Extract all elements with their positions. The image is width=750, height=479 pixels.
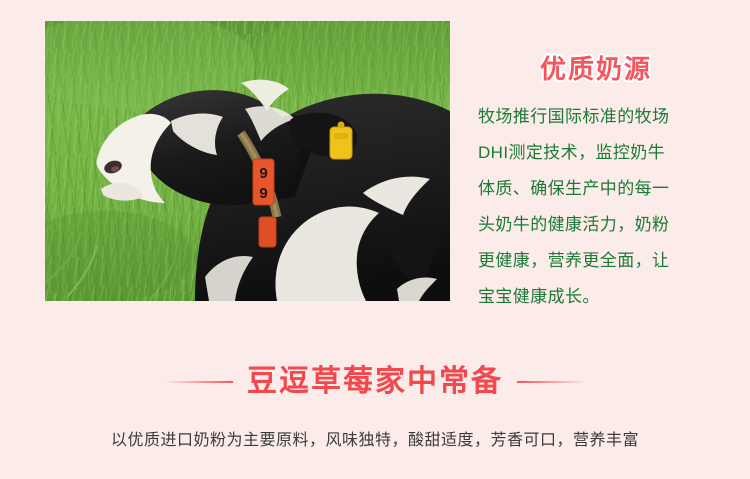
milk-source-section: 9 9 优质奶源 牧场推行国际标准的牧场 DHI测定技术，监控奶牛 体质、确保生… xyxy=(0,0,750,340)
collar-tag-lower xyxy=(259,217,276,247)
product-description-caption: 以优质进口奶粉为主要原料，风味独特，酸甜适度，芳香可口，营养丰富 xyxy=(0,428,750,454)
headline-band: 豆逗草莓家中常备 xyxy=(0,358,750,406)
cow-photo-illustration: 9 9 xyxy=(45,21,450,301)
milk-source-line: 更健康，营养更全面，让 xyxy=(478,243,728,279)
product-detail-page: 9 9 优质奶源 牧场推行国际标准的牧场 DHI测定技术，监控奶牛 体质、确保生… xyxy=(0,0,750,479)
divider-line-right xyxy=(517,381,587,383)
svg-text:9: 9 xyxy=(259,165,267,182)
svg-text:9: 9 xyxy=(259,185,267,202)
milk-source-line: 体质、确保生产中的每一 xyxy=(478,171,728,207)
milk-source-text-block: 优质奶源 牧场推行国际标准的牧场 DHI测定技术，监控奶牛 体质、确保生产中的每… xyxy=(478,55,728,315)
divider-line-left xyxy=(163,381,233,383)
milk-source-line: DHI测定技术，监控奶牛 xyxy=(478,135,728,171)
collar-tag-99: 9 9 xyxy=(253,159,274,205)
milk-source-paragraph: 牧场推行国际标准的牧场 DHI测定技术，监控奶牛 体质、确保生产中的每一 头奶牛… xyxy=(478,99,728,315)
milk-source-line: 头奶牛的健康活力，奶粉 xyxy=(478,207,728,243)
ear-tag xyxy=(330,122,352,160)
cow-pasture-photo: 9 9 xyxy=(45,21,450,301)
headline-title: 豆逗草莓家中常备 xyxy=(247,367,503,397)
milk-source-line: 牧场推行国际标准的牧场 xyxy=(478,99,728,135)
milk-source-line: 宝宝健康成长。 xyxy=(478,279,728,315)
milk-source-title: 优质奶源 xyxy=(478,55,728,85)
